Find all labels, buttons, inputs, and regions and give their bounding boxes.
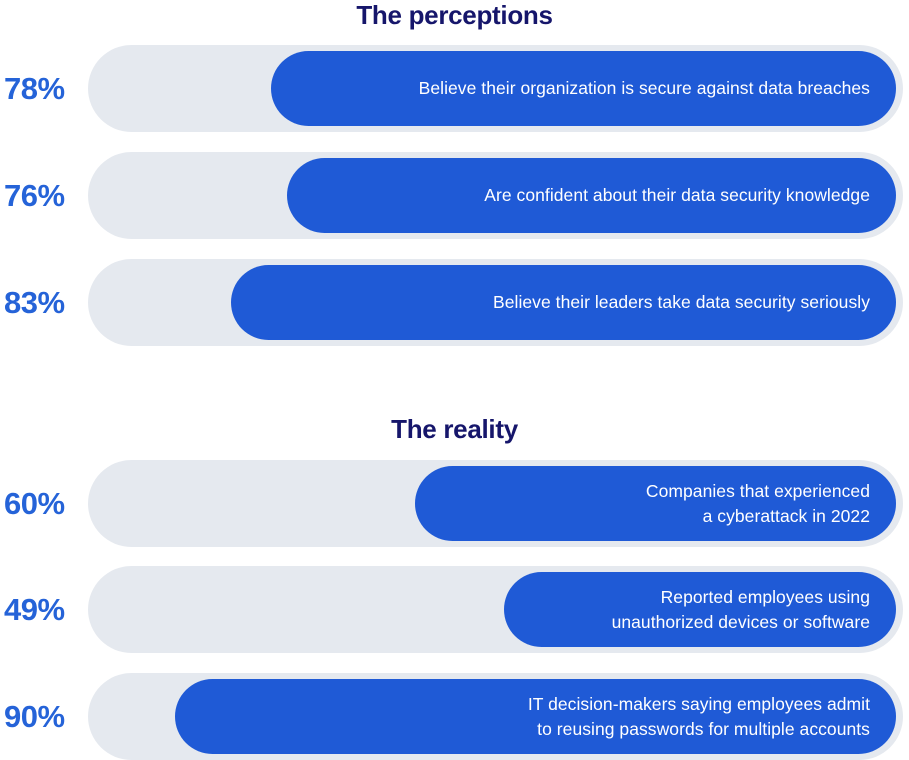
bar-row: 76% Are confident about their data secur… bbox=[0, 152, 909, 239]
bar-fill: Believe their leaders take data security… bbox=[231, 265, 896, 340]
bar-fill: IT decision-makers saying employees admi… bbox=[175, 679, 896, 754]
percent-label: 78% bbox=[0, 45, 78, 132]
bar-track: IT decision-makers saying employees admi… bbox=[88, 673, 903, 760]
bar-fill: Companies that experienced a cyberattack… bbox=[415, 466, 896, 541]
bar-row: 83% Believe their leaders take data secu… bbox=[0, 259, 909, 346]
section-heading-reality: The reality bbox=[0, 414, 909, 445]
bar-fill: Are confident about their data security … bbox=[287, 158, 896, 233]
bar-label: Companies that experienced a cyberattack… bbox=[646, 479, 870, 529]
bar-label: Reported employees using unauthorized de… bbox=[612, 585, 870, 635]
bar-label: Believe their leaders take data security… bbox=[493, 290, 870, 315]
bar-label: Are confident about their data security … bbox=[484, 183, 870, 208]
bar-label: Believe their organization is secure aga… bbox=[419, 76, 870, 101]
infographic-root: The perceptions 78% Believe their organi… bbox=[0, 0, 909, 760]
bar-track: Believe their organization is secure aga… bbox=[88, 45, 903, 132]
bar-track: Believe their leaders take data security… bbox=[88, 259, 903, 346]
bar-track: Reported employees using unauthorized de… bbox=[88, 566, 903, 653]
bar-row: 90% IT decision-makers saying employees … bbox=[0, 673, 909, 760]
bar-track: Companies that experienced a cyberattack… bbox=[88, 460, 903, 547]
bar-row: 60% Companies that experienced a cyberat… bbox=[0, 460, 909, 547]
percent-label: 60% bbox=[0, 460, 78, 547]
percent-label: 90% bbox=[0, 673, 78, 760]
bar-row: 78% Believe their organization is secure… bbox=[0, 45, 909, 132]
bar-fill: Reported employees using unauthorized de… bbox=[504, 572, 896, 647]
bar-row: 49% Reported employees using unauthorize… bbox=[0, 566, 909, 653]
section-heading-perceptions: The perceptions bbox=[0, 0, 909, 31]
percent-label: 49% bbox=[0, 566, 78, 653]
percent-label: 76% bbox=[0, 152, 78, 239]
bar-track: Are confident about their data security … bbox=[88, 152, 903, 239]
bar-label: IT decision-makers saying employees admi… bbox=[528, 692, 870, 742]
percent-label: 83% bbox=[0, 259, 78, 346]
bar-fill: Believe their organization is secure aga… bbox=[271, 51, 896, 126]
